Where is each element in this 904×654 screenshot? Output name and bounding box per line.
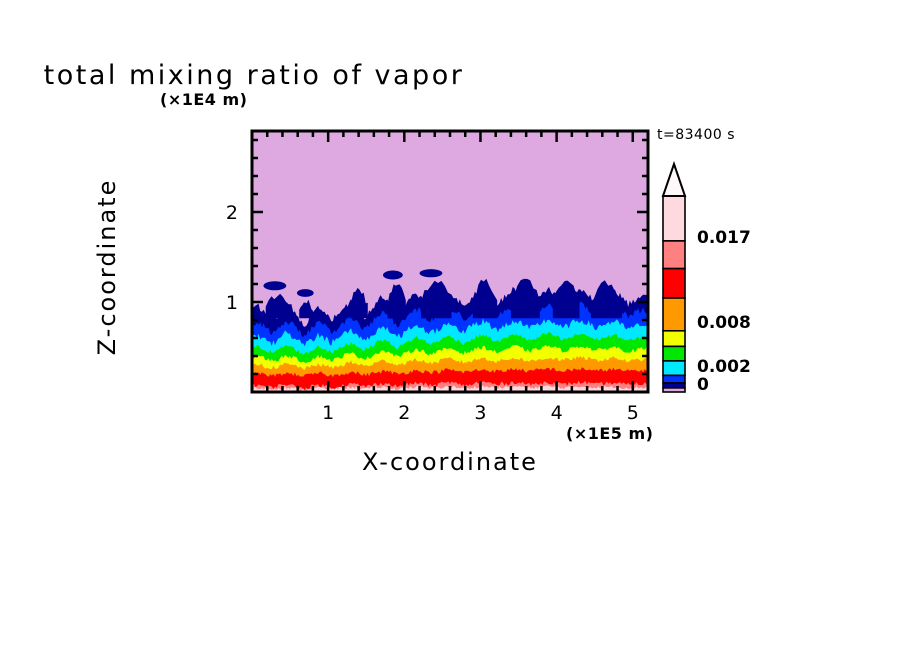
colorbar-band[interactable]	[663, 383, 685, 388]
x-axis-label: X-coordinate	[252, 448, 648, 476]
colorbar-labels: 0.0170.0080.0020	[697, 228, 751, 395]
colorbar-band[interactable]	[663, 361, 685, 376]
colorbar-band[interactable]	[663, 196, 685, 241]
x-tick-label: 1	[322, 402, 334, 424]
colorbar-tick-label: 0.008	[697, 313, 751, 333]
colorbar-band[interactable]	[663, 241, 685, 269]
colorbar-band[interactable]	[663, 375, 685, 383]
colorbar-band[interactable]	[663, 346, 685, 361]
plot-canvas: total mixing ratio of vapor (×1E4 m) t=8…	[0, 0, 904, 654]
x-tick-label: 5	[627, 402, 639, 424]
colorbar-tick-label: 0.002	[697, 357, 751, 377]
x-tick-label: 3	[474, 402, 486, 424]
x-tick-label: 2	[398, 402, 410, 424]
colorbar[interactable]	[663, 164, 685, 392]
contour-plot-svg: 0.0170.0080.0020 1234521	[0, 0, 904, 654]
colorbar-tick-label: 0.017	[697, 228, 751, 248]
colorbar-band[interactable]	[663, 388, 685, 392]
y-tick-label: 1	[226, 292, 238, 314]
contour-field	[252, 131, 648, 392]
colorbar-tick-label: 0	[697, 375, 709, 395]
colorbar-arrow-cap	[663, 164, 685, 196]
colorbar-band[interactable]	[663, 298, 685, 331]
x-tick-label: 4	[551, 402, 563, 424]
colorbar-band[interactable]	[663, 331, 685, 347]
x-axis-units: (×1E5 m)	[566, 424, 653, 443]
colorbar-band[interactable]	[663, 269, 685, 298]
y-axis-label: Z-coordinate	[93, 117, 121, 417]
y-tick-label: 2	[226, 202, 238, 224]
